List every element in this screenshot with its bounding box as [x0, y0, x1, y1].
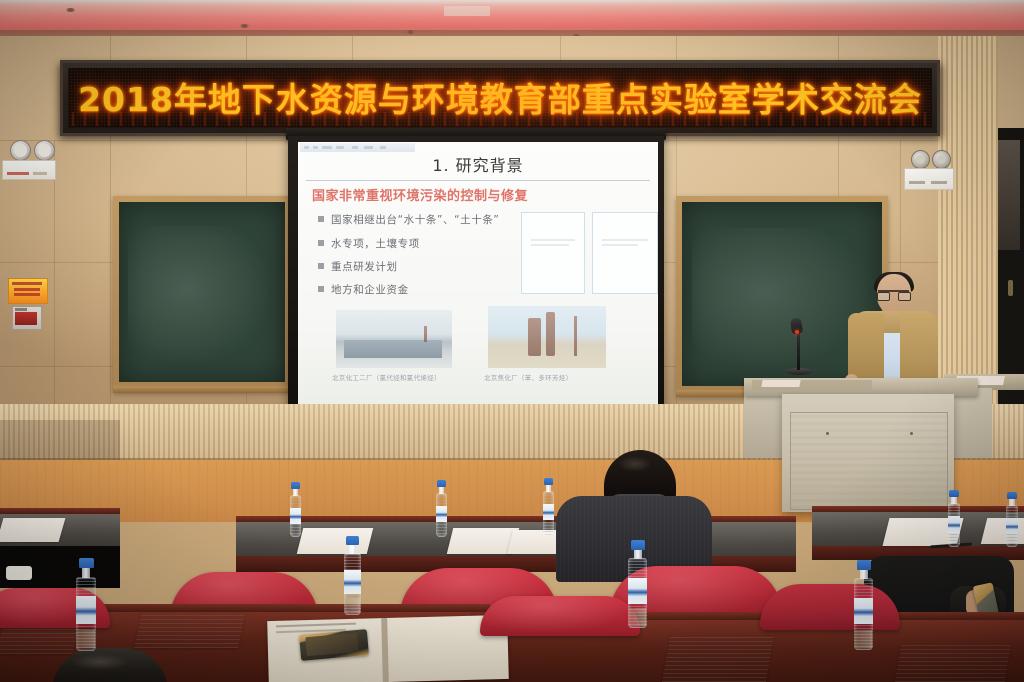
slide-photo-chemical-plant	[336, 310, 452, 368]
emergency-light-icon	[932, 150, 951, 169]
slide-bullet-text: 国家相继出台“水十条”、“土十条”	[331, 212, 499, 227]
emergency-light-icon	[911, 150, 930, 169]
wall-sign	[2, 160, 56, 180]
paper-sheet	[662, 636, 774, 682]
ceiling-light-icon	[406, 30, 415, 34]
paper-sheet	[0, 518, 65, 542]
microphone-led-indicator	[795, 330, 799, 334]
chalk-smudge	[692, 228, 872, 370]
podium-screw	[826, 432, 829, 435]
slide-photo-tower	[546, 312, 555, 356]
paper-sheet	[134, 612, 246, 648]
floor-shadow-left	[0, 420, 120, 460]
hair-highlight	[618, 456, 652, 472]
paper-sheet	[895, 644, 1012, 682]
chalkboard-left-rail	[113, 386, 291, 393]
podium-front-panel	[790, 412, 948, 510]
slide-bullet: 水专项，土壤专项	[318, 236, 538, 250]
ceiling-light-icon	[66, 8, 75, 12]
slide-document-thumbnail	[521, 212, 585, 294]
paper-sheet	[297, 528, 373, 554]
lecture-hall-photo: 2018年地下水资源与环境教育部重点实验室学术交流会 1. 研究背景 国家非常重…	[0, 0, 1024, 682]
slide-photo-caption: 北京焦化厂（苯、多环芳烃）	[484, 372, 614, 382]
slide-bullet-text: 地方和企业资金	[331, 282, 409, 297]
safety-poster	[8, 278, 48, 304]
ceiling-vent	[444, 6, 490, 16]
slide-photo-stack	[424, 326, 427, 342]
paper-sheet	[761, 380, 800, 387]
slide-bullet: 地方和企业资金	[318, 282, 538, 296]
slide-document-thumbnail	[592, 212, 658, 294]
slide-photo-tower	[528, 318, 541, 356]
ceiling-light-icon	[240, 24, 249, 28]
fire-alarm-indicator	[15, 312, 37, 325]
slide-photo-caption: 北京化工二厂（氯代烃和氯代烯烃）	[332, 372, 472, 382]
bullet-square-icon	[318, 263, 324, 269]
chair[interactable]	[760, 584, 900, 630]
tissue	[6, 566, 32, 580]
slide-title-divider	[306, 180, 650, 181]
bullet-square-icon	[318, 286, 324, 292]
chalk-smudge	[128, 226, 274, 366]
wall-sign	[904, 168, 954, 190]
paper-sheet	[0, 624, 80, 654]
slide-bullet: 国家相继出台“水十条”、“土十条”	[318, 212, 538, 226]
door-window	[996, 140, 1020, 250]
slide-title: 1. 研究背景	[298, 150, 658, 178]
slide-photo-building	[344, 340, 442, 358]
hair-highlight	[72, 654, 128, 670]
wall-clock-icon	[10, 140, 31, 161]
door-handle[interactable]	[1008, 280, 1013, 296]
chair[interactable]	[480, 596, 640, 636]
slide-bullet-text: 水专项，土壤专项	[331, 236, 420, 251]
podium-screw	[910, 432, 913, 435]
led-banner-text: 2018年地下水资源与环境教育部重点实验室学术交流会	[68, 72, 932, 122]
wall-gauge-icon	[34, 140, 55, 161]
glasses-icon	[878, 290, 909, 299]
microphone-stem	[797, 328, 800, 370]
bullet-square-icon	[318, 240, 324, 246]
bullet-square-icon	[318, 216, 324, 222]
slide-subtitle: 国家非常重视环境污染的控制与修复	[312, 184, 612, 204]
slide-photo-stack	[574, 316, 577, 356]
slide-bullet-text: 重点研发计划	[331, 259, 398, 274]
slide-bullet: 重点研发计划	[318, 259, 538, 273]
